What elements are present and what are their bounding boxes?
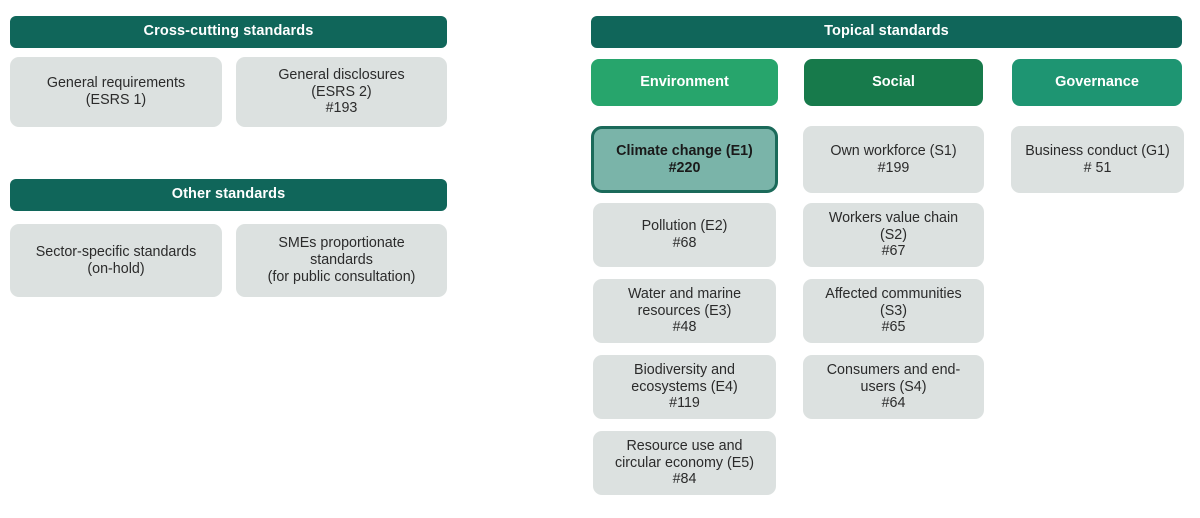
card-text: Sector-specific standards (on-hold) (29, 244, 204, 278)
card-line: General disclosures (278, 67, 404, 84)
card-biodiversity-and-ecosystems-e4: Biodiversity and ecosystems (E4) #119 (593, 355, 776, 419)
card-line: Pollution (E2) (642, 218, 728, 235)
card-line: #199 (830, 160, 956, 177)
card-text: Biodiversity and ecosystems (E4) #119 (624, 362, 744, 413)
card-line: Consumers and end- (827, 362, 961, 379)
card-line: #119 (631, 395, 737, 412)
card-line: Affected communities (825, 286, 961, 303)
card-climate-change-e1: Climate change (E1) #220 (591, 126, 778, 193)
card-text: Own workforce (S1) #199 (823, 143, 963, 177)
card-text: Water and marine resources (E3) #48 (621, 286, 748, 337)
card-text: Resource use and circular economy (E5) #… (608, 438, 761, 489)
topical-standards-header: Topical standards (591, 16, 1182, 48)
card-line: SMEs proportionate (268, 235, 416, 252)
card-line: resources (E3) (628, 303, 741, 320)
card-smes-proportionate-standards: SMEs proportionate standards (for public… (236, 224, 447, 297)
card-line: #65 (825, 319, 961, 336)
card-water-and-marine-resources-e3: Water and marine resources (E3) #48 (593, 279, 776, 343)
card-text: General requirements (ESRS 1) (40, 75, 192, 109)
card-line: Biodiversity and (631, 362, 737, 379)
card-line: Workers value chain (829, 210, 958, 227)
card-line: ecosystems (E4) (631, 379, 737, 396)
diagram-canvas: Cross-cutting standards General requirem… (0, 0, 1200, 518)
card-affected-communities-s3: Affected communities (S3) #65 (803, 279, 984, 343)
card-business-conduct-g1: Business conduct (G1) # 51 (1011, 126, 1184, 193)
card-line: #220 (616, 160, 753, 177)
card-general-disclosures: General disclosures (ESRS 2) #193 (236, 57, 447, 127)
card-text: Affected communities (S3) #65 (818, 286, 968, 337)
card-sector-specific-standards: Sector-specific standards (on-hold) (10, 224, 222, 297)
card-resource-use-and-circular-economy-e5: Resource use and circular economy (E5) #… (593, 431, 776, 495)
card-text: Workers value chain (S2) #67 (822, 210, 965, 261)
card-pollution-e2: Pollution (E2) #68 (593, 203, 776, 267)
card-line: (for public consultation) (268, 269, 416, 286)
category-header-social: Social (804, 59, 983, 106)
card-line: Own workforce (S1) (830, 143, 956, 160)
card-line: #67 (829, 243, 958, 260)
card-text: Pollution (E2) #68 (635, 218, 735, 252)
card-line: Sector-specific standards (36, 244, 197, 261)
card-line: (ESRS 1) (47, 92, 185, 109)
card-own-workforce-s1: Own workforce (S1) #199 (803, 126, 984, 193)
card-line: Water and marine (628, 286, 741, 303)
card-line: Climate change (E1) (616, 143, 753, 160)
card-workers-value-chain-s2: Workers value chain (S2) #67 (803, 203, 984, 267)
card-line: #84 (615, 471, 754, 488)
card-line: Business conduct (G1) (1025, 143, 1170, 160)
card-text: General disclosures (ESRS 2) #193 (271, 67, 411, 118)
card-consumers-and-end-users-s4: Consumers and end- users (S4) #64 (803, 355, 984, 419)
card-line: (on-hold) (36, 261, 197, 278)
card-line: General requirements (47, 75, 185, 92)
card-line: (ESRS 2) (278, 84, 404, 101)
card-line: #48 (628, 319, 741, 336)
card-line: #193 (278, 100, 404, 117)
category-header-governance: Governance (1012, 59, 1182, 106)
card-text: Consumers and end- users (S4) #64 (820, 362, 968, 413)
card-line: standards (268, 252, 416, 269)
card-line: Resource use and (615, 438, 754, 455)
card-line: # 51 (1025, 160, 1170, 177)
card-text: Business conduct (G1) # 51 (1018, 143, 1177, 177)
cross-cutting-standards-header: Cross-cutting standards (10, 16, 447, 48)
card-line: circular economy (E5) (615, 455, 754, 472)
other-standards-header: Other standards (10, 179, 447, 211)
card-line: (S2) (829, 227, 958, 244)
card-line: #64 (827, 395, 961, 412)
card-line: (S3) (825, 303, 961, 320)
card-line: users (S4) (827, 379, 961, 396)
category-header-environment: Environment (591, 59, 778, 106)
card-text: Climate change (E1) #220 (609, 143, 760, 177)
card-text: SMEs proportionate standards (for public… (261, 235, 423, 286)
card-line: #68 (642, 235, 728, 252)
card-general-requirements: General requirements (ESRS 1) (10, 57, 222, 127)
